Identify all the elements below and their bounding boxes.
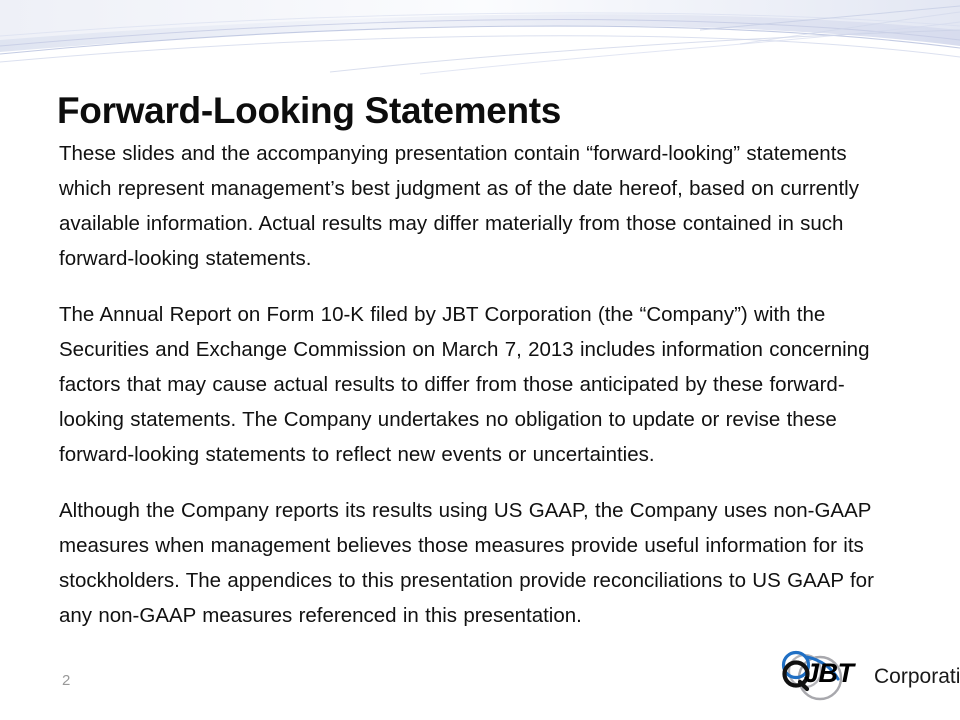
jbt-corporation-logo: JBT Corporation [776, 648, 956, 704]
jbt-logo-rings-icon: JBT [776, 648, 872, 704]
page-number: 2 [62, 672, 70, 689]
paragraph-annual-report-reference: The Annual Report on Form 10-K filed by … [59, 297, 904, 472]
jbt-logo-corporation-text: Corporation [874, 666, 960, 687]
jbt-logo-wordmark: JBT [804, 660, 854, 687]
header-swoosh-decoration [0, 0, 960, 80]
paragraph-forward-looking-definition: These slides and the accompanying presen… [59, 136, 904, 276]
slide-canvas: Forward-Looking Statements These slides … [0, 0, 960, 720]
page-title: Forward-Looking Statements [57, 91, 561, 132]
body-content: These slides and the accompanying presen… [59, 136, 904, 633]
paragraph-non-gaap-disclosure: Although the Company reports its results… [59, 493, 904, 633]
